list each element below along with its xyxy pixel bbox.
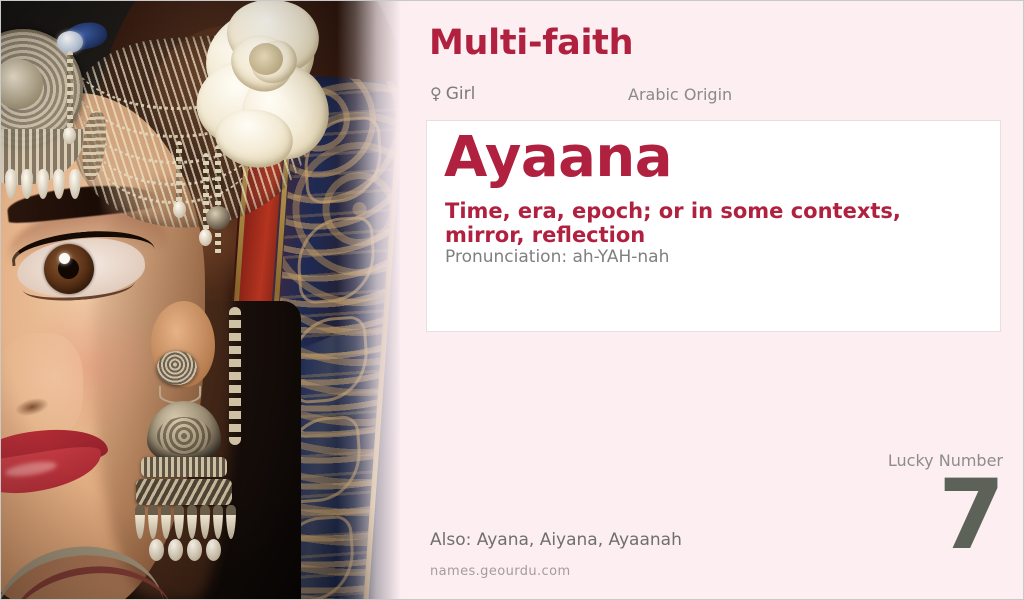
name-info-card: Multi-faith ♀Girl Arabic Origin Ayaana T… xyxy=(0,0,1024,600)
earring-stud xyxy=(157,351,197,385)
gender-text: Girl xyxy=(446,84,476,104)
tikka-jewel-icon xyxy=(57,31,83,53)
pearl-drop-row xyxy=(1,169,85,213)
portrait-photo xyxy=(1,1,401,600)
jhumka-band xyxy=(136,479,232,505)
chain-drop-strand xyxy=(67,51,73,129)
meta-row: ♀Girl Arabic Origin xyxy=(430,84,850,108)
chain-drop-bead xyxy=(173,201,186,218)
photo-right-fade xyxy=(337,1,401,600)
venus-icon: ♀ xyxy=(430,84,442,103)
portrait-illustration xyxy=(1,1,401,600)
source-website: names.geourdu.com xyxy=(430,564,571,579)
lucky-number-value: 7 xyxy=(743,471,1003,559)
name-detail-card: Ayaana Time, era, epoch; or in some cont… xyxy=(426,120,1001,332)
chain-drop-bead xyxy=(206,206,230,230)
name-heading: Ayaana xyxy=(444,129,672,188)
origin-label: Arabic Origin xyxy=(628,85,732,104)
side-bead-chain xyxy=(229,307,241,445)
jhumka-fringe xyxy=(133,505,237,539)
religion-title: Multi-faith xyxy=(429,26,633,61)
nose xyxy=(1,333,83,443)
chain-drop-strand xyxy=(176,141,182,205)
rose-core xyxy=(249,43,283,75)
name-meaning: Time, era, epoch; or in some contexts, m… xyxy=(445,199,985,248)
gender-label: ♀Girl xyxy=(430,84,475,104)
name-pronunciation: Pronunciation: ah-YAH-nah xyxy=(445,247,669,267)
jhumka-pearl-drops xyxy=(145,539,225,561)
lucky-number-block: Lucky Number 7 xyxy=(743,453,1003,559)
jhumka-band xyxy=(141,457,227,477)
info-panel: Multi-faith ♀Girl Arabic Origin Ayaana T… xyxy=(401,1,1024,600)
white-rose-icon xyxy=(197,1,333,169)
alternate-spellings: Also: Ayana, Aiyana, Ayaanah xyxy=(430,530,682,550)
chain-drop-bead xyxy=(63,127,76,144)
chain-drop-bead xyxy=(199,229,212,246)
